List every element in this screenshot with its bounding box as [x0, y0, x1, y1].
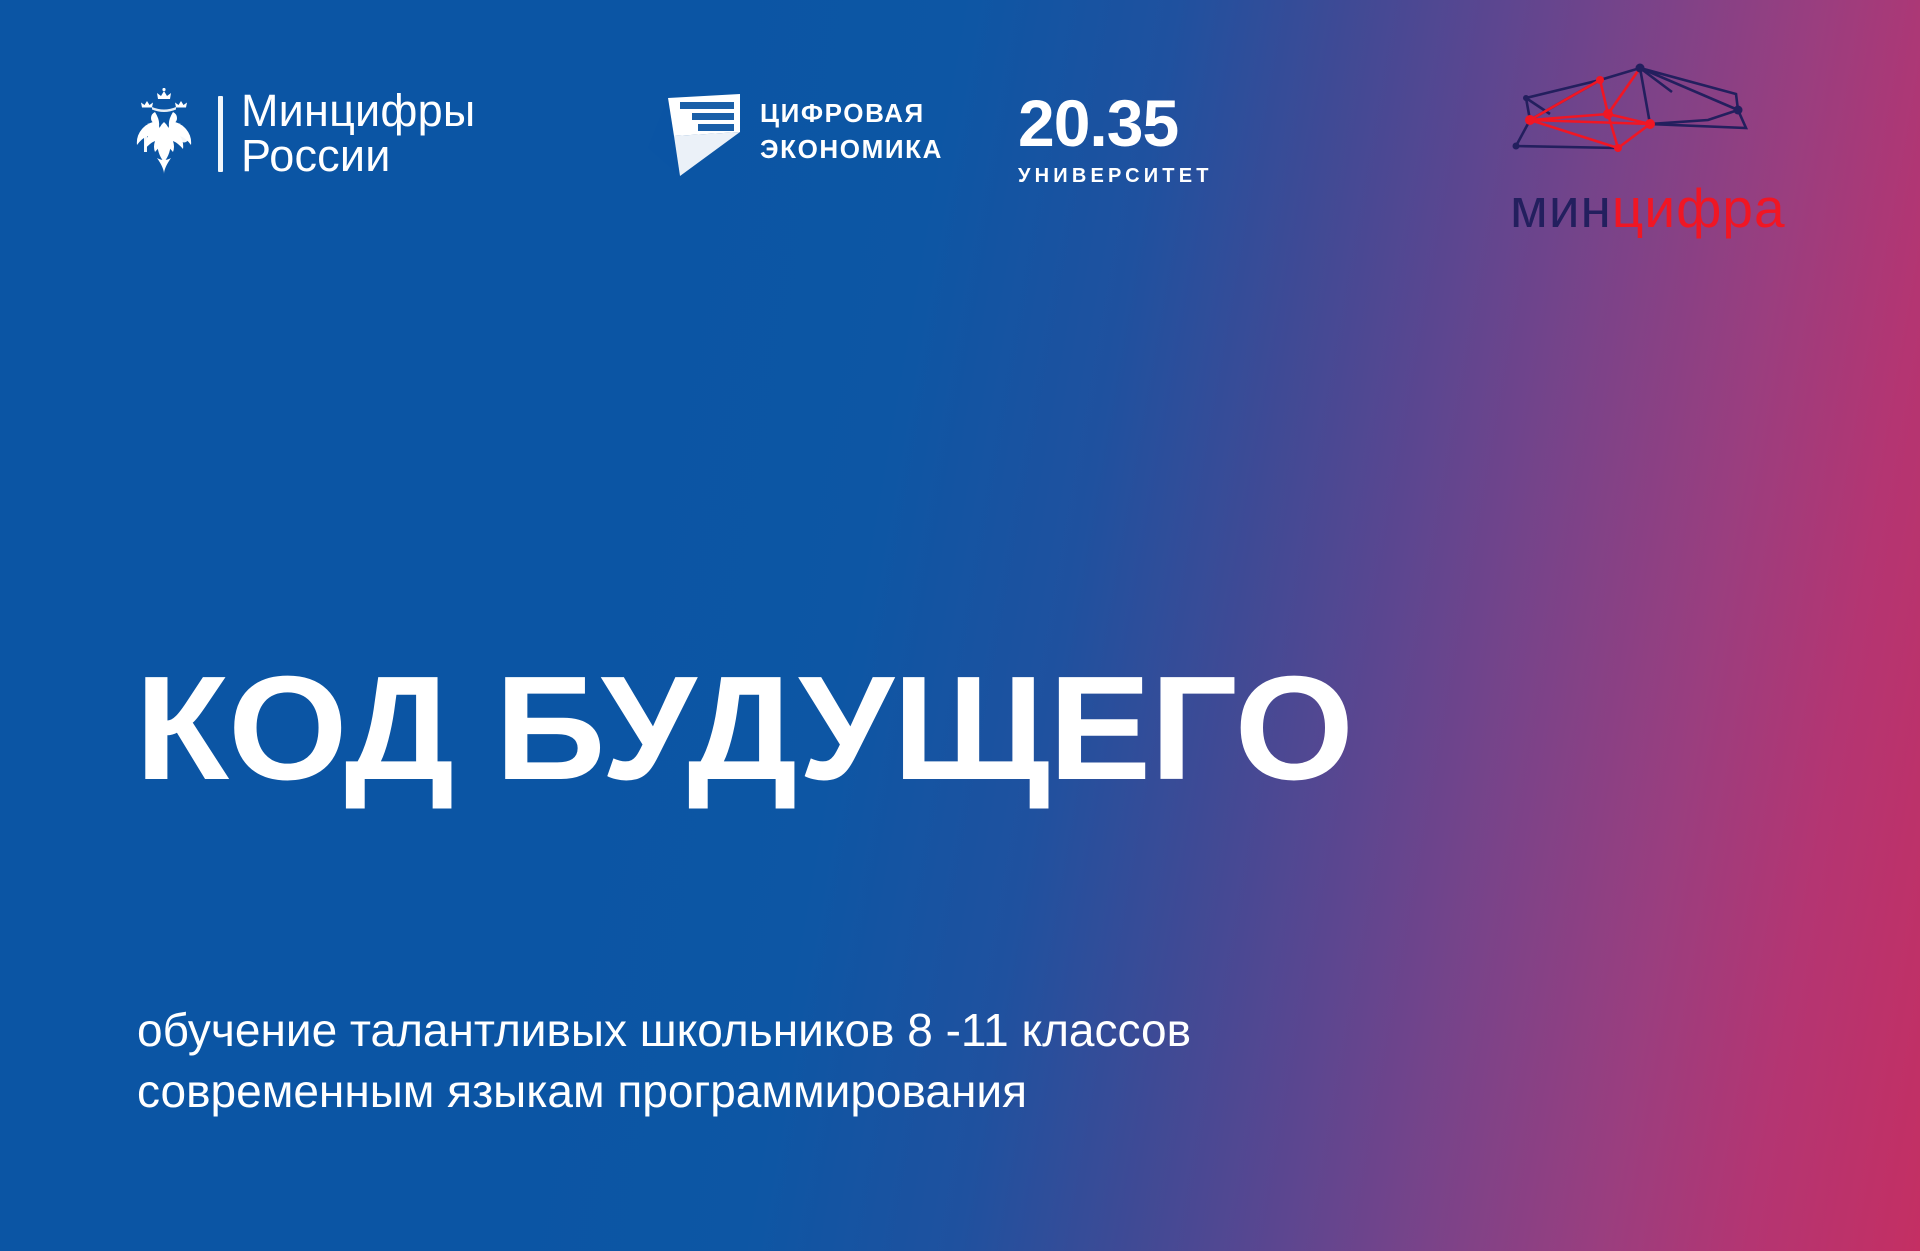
national-project-mark-icon: [640, 92, 744, 178]
poster-canvas: Минцифры России ЦИФРОВАЯ: [0, 0, 1920, 1251]
polygonal-network-icon: [1500, 58, 1800, 178]
ministry-wordmark-line1: Минцифры: [241, 89, 475, 134]
logo-header-row: Минцифры России ЦИФРОВАЯ: [0, 0, 1920, 270]
logo-divider: [218, 96, 223, 172]
ministry-wordmark: Минцифры России: [241, 89, 475, 178]
digital-economy-line1: ЦИФРОВАЯ: [760, 98, 943, 129]
mincifra-wordmark-dark: мин: [1510, 177, 1612, 239]
university-2035-logo: 20.35 УНИВЕРСИТЕТ: [1018, 92, 1213, 188]
russian-coat-of-arms-icon: [128, 88, 200, 180]
ministry-of-digital-development-logo: Минцифры России: [128, 88, 475, 180]
subtitle-line-2: современным языкам программирования: [137, 1061, 1191, 1122]
ministry-wordmark-line2: России: [241, 134, 475, 179]
digital-economy-line2: ЭКОНОМИКА: [760, 134, 943, 165]
subtitle-line-1: обучение талантливых школьников 8 -11 кл…: [137, 1000, 1191, 1061]
page-subtitle: обучение талантливых школьников 8 -11 кл…: [137, 1000, 1191, 1122]
university-2035-number: 20.35: [1018, 92, 1178, 155]
digital-economy-wordmark: ЦИФРОВАЯ ЭКОНОМИКА: [760, 92, 943, 165]
digital-economy-logo: ЦИФРОВАЯ ЭКОНОМИКА: [640, 92, 943, 178]
mincifra-wordmark-red: цифра: [1612, 177, 1786, 239]
page-title: КОД БУДУЩЕГО: [135, 655, 1353, 803]
mincifra-wordmark: минцифра: [1510, 176, 1786, 240]
university-2035-label: УНИВЕРСИТЕТ: [1018, 165, 1213, 188]
mincifra-logo: минцифра: [1500, 58, 1840, 258]
